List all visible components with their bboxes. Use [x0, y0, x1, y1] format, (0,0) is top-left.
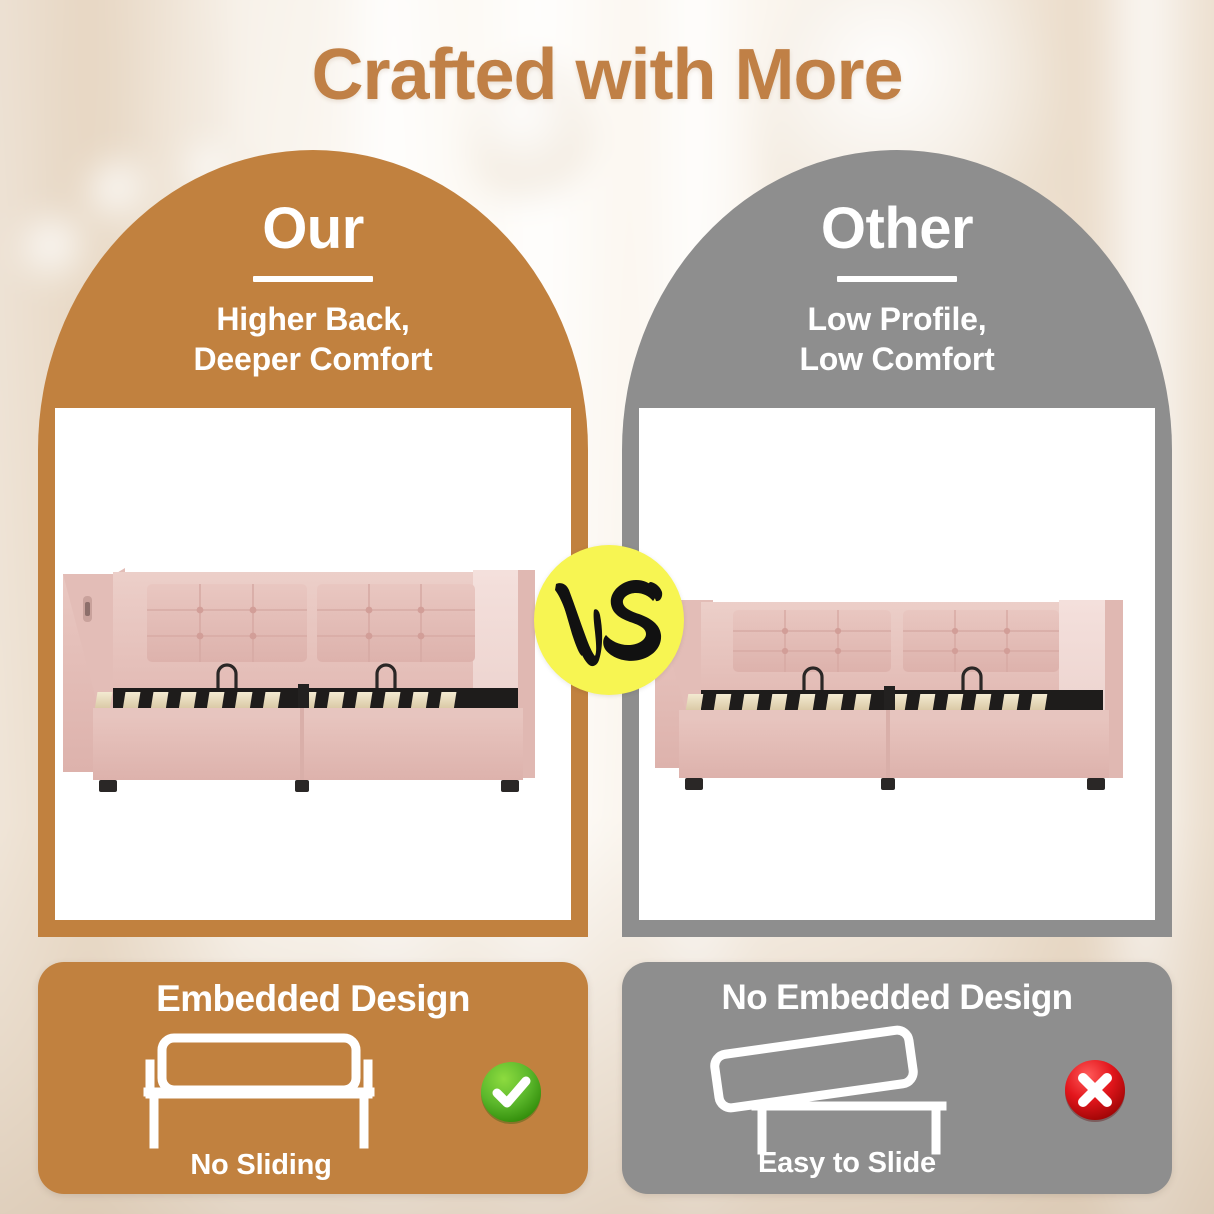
- comparison-panel-our: Our Higher Back, Deeper Comfort: [38, 150, 588, 937]
- panel-title-other: Other: [622, 150, 1172, 258]
- feature-card-body-good: No Sliding: [38, 1020, 588, 1194]
- title-divider-other: [837, 276, 957, 282]
- daybed-low-back-illustration: [639, 576, 1155, 802]
- vs-badge: [534, 545, 684, 695]
- feature-card-title-bad: No Embedded Design: [622, 962, 1172, 1018]
- comparison-panel-other: Other Low Profile, Low Comfort: [622, 150, 1172, 937]
- vs-text-icon: [550, 568, 668, 672]
- feature-card-body-bad: Easy to Slide: [622, 1018, 1172, 1194]
- feature-card-title-good: Embedded Design: [38, 962, 588, 1020]
- feature-card-caption-bad: Easy to Slide: [622, 1147, 1172, 1180]
- feature-card-no-embedded-design: No Embedded Design: [622, 962, 1172, 1194]
- daybed-high-back-illustration: [55, 556, 571, 806]
- product-photo-our: [55, 408, 571, 920]
- panel-title-our: Our: [38, 150, 588, 258]
- feature-card-embedded-design: Embedded Design: [38, 962, 588, 1194]
- page-title: Crafted with More: [0, 34, 1214, 116]
- check-circle-icon: [478, 1060, 544, 1126]
- sliding-mattress-icon: [708, 1020, 978, 1156]
- cross-circle-icon: [1062, 1058, 1128, 1124]
- panel-subtitle-other: Low Profile, Low Comfort: [622, 300, 1172, 379]
- title-divider-our: [253, 276, 373, 282]
- feature-card-caption-good: No Sliding: [38, 1149, 588, 1182]
- panel-subtitle-our-line1: Higher Back,: [38, 300, 588, 340]
- embedded-mattress-icon: [134, 1026, 384, 1154]
- panel-subtitle-other-line2: Low Comfort: [622, 340, 1172, 380]
- panel-header-our: Our Higher Back, Deeper Comfort: [38, 150, 588, 408]
- panel-header-other: Other Low Profile, Low Comfort: [622, 150, 1172, 408]
- panel-subtitle-our: Higher Back, Deeper Comfort: [38, 300, 588, 379]
- product-photo-other: [639, 408, 1155, 920]
- panel-subtitle-our-line2: Deeper Comfort: [38, 340, 588, 380]
- panel-subtitle-other-line1: Low Profile,: [622, 300, 1172, 340]
